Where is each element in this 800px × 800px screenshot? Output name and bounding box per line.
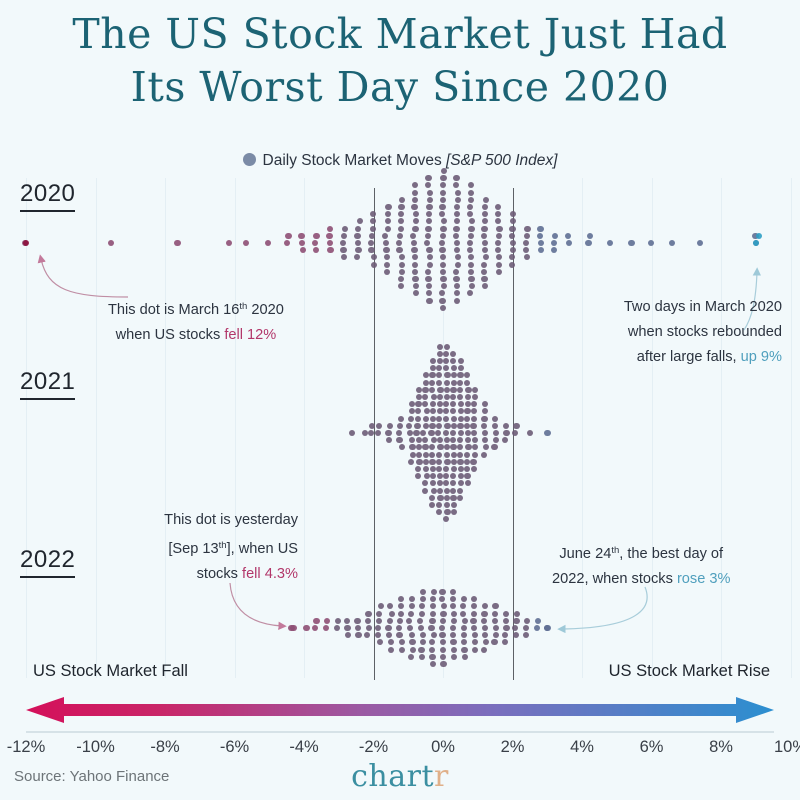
data-point: [538, 240, 544, 246]
data-point: [298, 233, 304, 239]
data-point: [412, 197, 418, 203]
data-point: [444, 344, 450, 350]
data-point: [420, 632, 426, 638]
data-point: [376, 423, 382, 429]
data-point: [324, 618, 330, 624]
data-point: [440, 226, 446, 232]
data-point: [409, 408, 415, 414]
data-point: [454, 211, 460, 217]
data-point: [436, 380, 442, 386]
data-point: [444, 394, 450, 400]
data-point: [428, 625, 434, 631]
year-label-2021: 2021: [20, 368, 75, 400]
data-point: [303, 625, 309, 631]
data-point: [409, 603, 415, 609]
data-point: [451, 509, 457, 515]
data-point: [471, 603, 477, 609]
faint-gridline: [721, 178, 722, 678]
data-point: [385, 625, 391, 631]
data-point: [429, 639, 435, 645]
data-point: [493, 437, 499, 443]
data-point: [430, 401, 436, 407]
data-point: [443, 416, 449, 422]
data-point: [439, 625, 445, 631]
data-point: [443, 365, 449, 371]
axis-tick-6pct: 6%: [640, 738, 664, 757]
data-point: [430, 603, 436, 609]
data-point: [408, 416, 414, 422]
data-point: [355, 247, 361, 253]
data-point: [409, 596, 415, 602]
data-point: [419, 603, 425, 609]
brand-logo: chartr: [0, 759, 800, 794]
data-point: [454, 290, 460, 296]
axis-tick-4pct: 4%: [570, 738, 594, 757]
legend-label: Daily Stock Market Moves: [263, 152, 446, 169]
data-point: [362, 430, 368, 436]
annotation-yesterday-line1: This dot is yesterday: [118, 508, 298, 533]
data-point: [427, 254, 433, 260]
data-point: [440, 269, 446, 275]
data-point: [409, 632, 415, 638]
year-label-2022: 2022: [20, 546, 75, 578]
data-point: [458, 358, 464, 364]
data-point: [424, 240, 430, 246]
data-point: [454, 247, 460, 253]
data-point: [422, 437, 428, 443]
data-point: [387, 618, 393, 624]
faint-gridline: [652, 178, 653, 678]
data-point: [327, 226, 333, 232]
data-point: [464, 466, 470, 472]
data-point: [431, 589, 437, 595]
data-point: [450, 358, 456, 364]
data-point: [412, 190, 418, 196]
axis-tick-minus10pct: -10%: [76, 738, 115, 757]
data-point: [440, 197, 446, 203]
data-point: [509, 262, 515, 268]
data-point: [450, 625, 456, 631]
data-point: [422, 480, 428, 486]
data-point: [422, 387, 428, 393]
data-point: [385, 430, 391, 436]
data-point: [419, 611, 425, 617]
data-point: [469, 218, 475, 224]
data-point: [471, 611, 477, 617]
data-point: [313, 233, 319, 239]
data-point: [440, 182, 446, 188]
data-point: [413, 211, 419, 217]
page-title: The US Stock Market Just Had Its Worst D…: [0, 8, 800, 114]
data-point: [416, 444, 422, 450]
data-point: [472, 394, 478, 400]
data-point: [454, 283, 460, 289]
data-point: [423, 423, 429, 429]
data-point: [426, 211, 432, 217]
data-point: [443, 358, 449, 364]
data-point: [370, 211, 376, 217]
data-point: [399, 444, 405, 450]
data-point: [450, 639, 456, 645]
data-point: [430, 596, 436, 602]
data-point: [450, 473, 456, 479]
annotation-yesterday-line2: [Sep 13th], when US: [118, 533, 298, 562]
data-point: [436, 372, 442, 378]
data-point: [450, 387, 456, 393]
data-point: [386, 632, 392, 638]
data-point: [443, 408, 449, 414]
data-point: [399, 269, 405, 275]
data-point: [427, 197, 433, 203]
data-point: [418, 647, 424, 653]
data-point: [450, 444, 456, 450]
data-point: [513, 618, 519, 624]
title-line-1: The US Stock Market Just Had: [0, 8, 800, 61]
data-point: [441, 603, 447, 609]
data-point: [467, 290, 473, 296]
data-point: [436, 509, 442, 515]
data-point: [457, 495, 463, 501]
data-point: [415, 466, 421, 472]
data-point: [537, 233, 543, 239]
data-point: [468, 190, 474, 196]
data-point: [415, 408, 421, 414]
data-point: [411, 247, 417, 253]
data-point: [243, 240, 249, 246]
data-point: [387, 603, 393, 609]
data-point: [412, 262, 418, 268]
data-point: [481, 452, 487, 458]
data-point: [439, 290, 445, 296]
data-point: [471, 408, 477, 414]
data-point: [412, 269, 418, 275]
data-point: [565, 233, 571, 239]
data-point: [440, 611, 446, 617]
data-point: [428, 430, 434, 436]
data-point: [483, 254, 489, 260]
data-point: [464, 380, 470, 386]
data-point: [440, 175, 446, 181]
data-point: [429, 444, 435, 450]
data-point: [468, 276, 474, 282]
legend: Daily Stock Market Moves [S&P 500 Index]: [0, 152, 800, 170]
data-point: [424, 473, 430, 479]
highlighted-data-point: [756, 233, 762, 239]
data-point: [470, 459, 476, 465]
data-point: [455, 254, 461, 260]
data-point: [406, 423, 412, 429]
data-point: [503, 423, 509, 429]
data-point: [399, 647, 405, 653]
data-point: [444, 387, 450, 393]
data-point: [481, 647, 487, 653]
data-point: [398, 283, 404, 289]
data-point: [409, 401, 415, 407]
data-point: [607, 240, 613, 246]
data-point: [471, 430, 477, 436]
data-point: [420, 596, 426, 602]
data-point: [355, 226, 361, 232]
data-point: [552, 233, 558, 239]
data-point: [544, 430, 550, 436]
data-point: [439, 247, 445, 253]
data-point: [482, 625, 488, 631]
data-point: [429, 502, 435, 508]
data-point: [398, 611, 404, 617]
data-point: [312, 240, 318, 246]
data-point: [436, 452, 442, 458]
data-point: [312, 625, 318, 631]
data-point: [411, 204, 417, 210]
data-point: [481, 611, 487, 617]
data-point: [396, 632, 402, 638]
axis-tick-2pct: 2%: [501, 738, 525, 757]
data-point: [440, 654, 446, 660]
data-point: [444, 380, 450, 386]
data-point: [444, 495, 450, 501]
axis-caption-fall: US Stock Market Fall: [33, 662, 188, 681]
data-point: [468, 182, 474, 188]
data-point: [435, 430, 441, 436]
data-point: [450, 408, 456, 414]
data-point: [450, 401, 456, 407]
data-point: [496, 226, 502, 232]
data-point: [482, 240, 488, 246]
highlighted-data-point: [753, 240, 759, 246]
legend-dot-icon: [243, 153, 256, 166]
data-point: [482, 218, 488, 224]
data-point: [453, 269, 459, 275]
data-point: [440, 190, 446, 196]
data-point: [285, 233, 291, 239]
data-point: [340, 247, 346, 253]
data-point: [397, 423, 403, 429]
data-point: [385, 211, 391, 217]
data-point: [454, 240, 460, 246]
data-point: [457, 387, 463, 393]
data-point: [427, 190, 433, 196]
data-point: [457, 394, 463, 400]
faint-gridline: [304, 178, 305, 678]
data-point: [375, 625, 381, 631]
data-point: [513, 632, 519, 638]
data-point: [510, 240, 516, 246]
annotation-march16-line2: when US stocks fell 12%: [108, 323, 284, 348]
data-point: [108, 240, 114, 246]
data-point: [483, 639, 489, 645]
data-point: [483, 197, 489, 203]
data-point: [439, 632, 445, 638]
data-point: [376, 611, 382, 617]
data-point: [423, 372, 429, 378]
data-point: [472, 444, 478, 450]
data-point: [524, 618, 530, 624]
data-point: [410, 647, 416, 653]
data-point: [437, 387, 443, 393]
data-point: [354, 233, 360, 239]
data-point: [495, 247, 501, 253]
data-point: [450, 430, 456, 436]
data-point: [468, 262, 474, 268]
data-point: [451, 502, 457, 508]
data-point: [468, 269, 474, 275]
faint-gridline: [235, 178, 236, 678]
data-point: [496, 262, 502, 268]
data-point: [426, 298, 432, 304]
data-point: [451, 423, 457, 429]
annotation-june24-line2: 2022, when stocks rose 3%: [552, 567, 730, 592]
data-point: [469, 283, 475, 289]
data-point: [461, 632, 467, 638]
highlighted-data-point: [290, 625, 296, 631]
data-point: [424, 408, 430, 414]
data-point: [496, 254, 502, 260]
data-point: [382, 233, 388, 239]
data-point: [468, 233, 474, 239]
data-point: [495, 204, 501, 210]
data-point: [453, 233, 459, 239]
annotation-rebound-line1: Two days in March 2020: [624, 295, 782, 320]
data-point: [416, 387, 422, 393]
data-point: [426, 290, 432, 296]
data-point: [344, 618, 350, 624]
data-point: [365, 611, 371, 617]
data-point: [389, 611, 395, 617]
data-point: [482, 408, 488, 414]
data-point: [417, 618, 423, 624]
data-point: [377, 639, 383, 645]
data-point: [443, 466, 449, 472]
data-point: [439, 589, 445, 595]
data-point: [523, 247, 529, 253]
data-point: [443, 516, 449, 522]
axis-rule: [26, 731, 774, 733]
data-point: [425, 233, 431, 239]
data-point: [444, 437, 450, 443]
data-point: [439, 240, 445, 246]
data-point: [450, 596, 456, 602]
data-point: [472, 387, 478, 393]
data-point: [300, 247, 306, 253]
data-point: [492, 611, 498, 617]
data-point: [455, 262, 461, 268]
data-point: [495, 218, 501, 224]
data-point: [429, 654, 435, 660]
data-point: [471, 596, 477, 602]
data-point: [423, 416, 429, 422]
data-point: [444, 372, 450, 378]
data-point: [375, 632, 381, 638]
data-point: [464, 459, 470, 465]
data-point: [450, 437, 456, 443]
data-point: [406, 618, 412, 624]
data-point: [437, 351, 443, 357]
data-point: [387, 423, 393, 429]
data-point: [493, 430, 499, 436]
data-point: [431, 488, 437, 494]
data-point: [502, 639, 508, 645]
data-point: [492, 416, 498, 422]
data-point: [425, 269, 431, 275]
data-point: [439, 211, 445, 217]
data-point: [481, 269, 487, 275]
data-point: [509, 226, 515, 232]
data-point: [429, 495, 435, 501]
data-point: [423, 459, 429, 465]
data-point: [510, 211, 516, 217]
data-point: [444, 444, 450, 450]
data-point: [514, 611, 520, 617]
data-point: [371, 254, 377, 260]
data-point: [398, 416, 404, 422]
axis-caption-rise: US Stock Market Rise: [609, 662, 770, 681]
data-point: [357, 218, 363, 224]
data-point: [425, 276, 431, 282]
data-point: [408, 611, 414, 617]
data-point: [454, 218, 460, 224]
axis-tick-minus8pct: -8%: [150, 738, 179, 757]
data-point: [429, 459, 435, 465]
data-point: [482, 632, 488, 638]
data-point: [669, 240, 675, 246]
data-point: [431, 437, 437, 443]
data-point: [457, 444, 463, 450]
legend-sublabel: [S&P 500 Index]: [446, 152, 557, 169]
data-point: [388, 639, 394, 645]
data-point: [450, 495, 456, 501]
data-point: [481, 416, 487, 422]
data-point: [467, 240, 473, 246]
data-point: [440, 639, 446, 645]
data-point: [458, 430, 464, 436]
data-point: [284, 240, 290, 246]
data-point: [467, 211, 473, 217]
data-point: [450, 488, 456, 494]
data-point: [386, 437, 392, 443]
data-point: [427, 262, 433, 268]
data-point: [458, 466, 464, 472]
data-point: [472, 647, 478, 653]
annotation-rebound: Two days in March 2020 when stocks rebou…: [624, 295, 782, 370]
data-point: [384, 262, 390, 268]
data-point: [349, 430, 355, 436]
data-point: [385, 218, 391, 224]
data-point: [523, 632, 529, 638]
highlighted-data-point: [23, 240, 30, 247]
data-point: [441, 283, 447, 289]
data-point: [443, 473, 449, 479]
data-point: [482, 437, 488, 443]
data-point: [414, 423, 420, 429]
data-point: [457, 459, 463, 465]
data-point: [523, 625, 529, 631]
data-point: [465, 401, 471, 407]
data-point: [481, 618, 487, 624]
data-point: [439, 298, 445, 304]
data-point: [458, 408, 464, 414]
data-point: [397, 233, 403, 239]
data-point: [534, 625, 540, 631]
data-point: [396, 240, 402, 246]
data-point: [509, 233, 515, 239]
data-point: [472, 437, 478, 443]
data-point: [436, 466, 442, 472]
brand-accent: r: [434, 759, 449, 794]
data-point: [472, 452, 478, 458]
data-point: [423, 452, 429, 458]
data-point: [355, 632, 361, 638]
data-point: [354, 254, 360, 260]
